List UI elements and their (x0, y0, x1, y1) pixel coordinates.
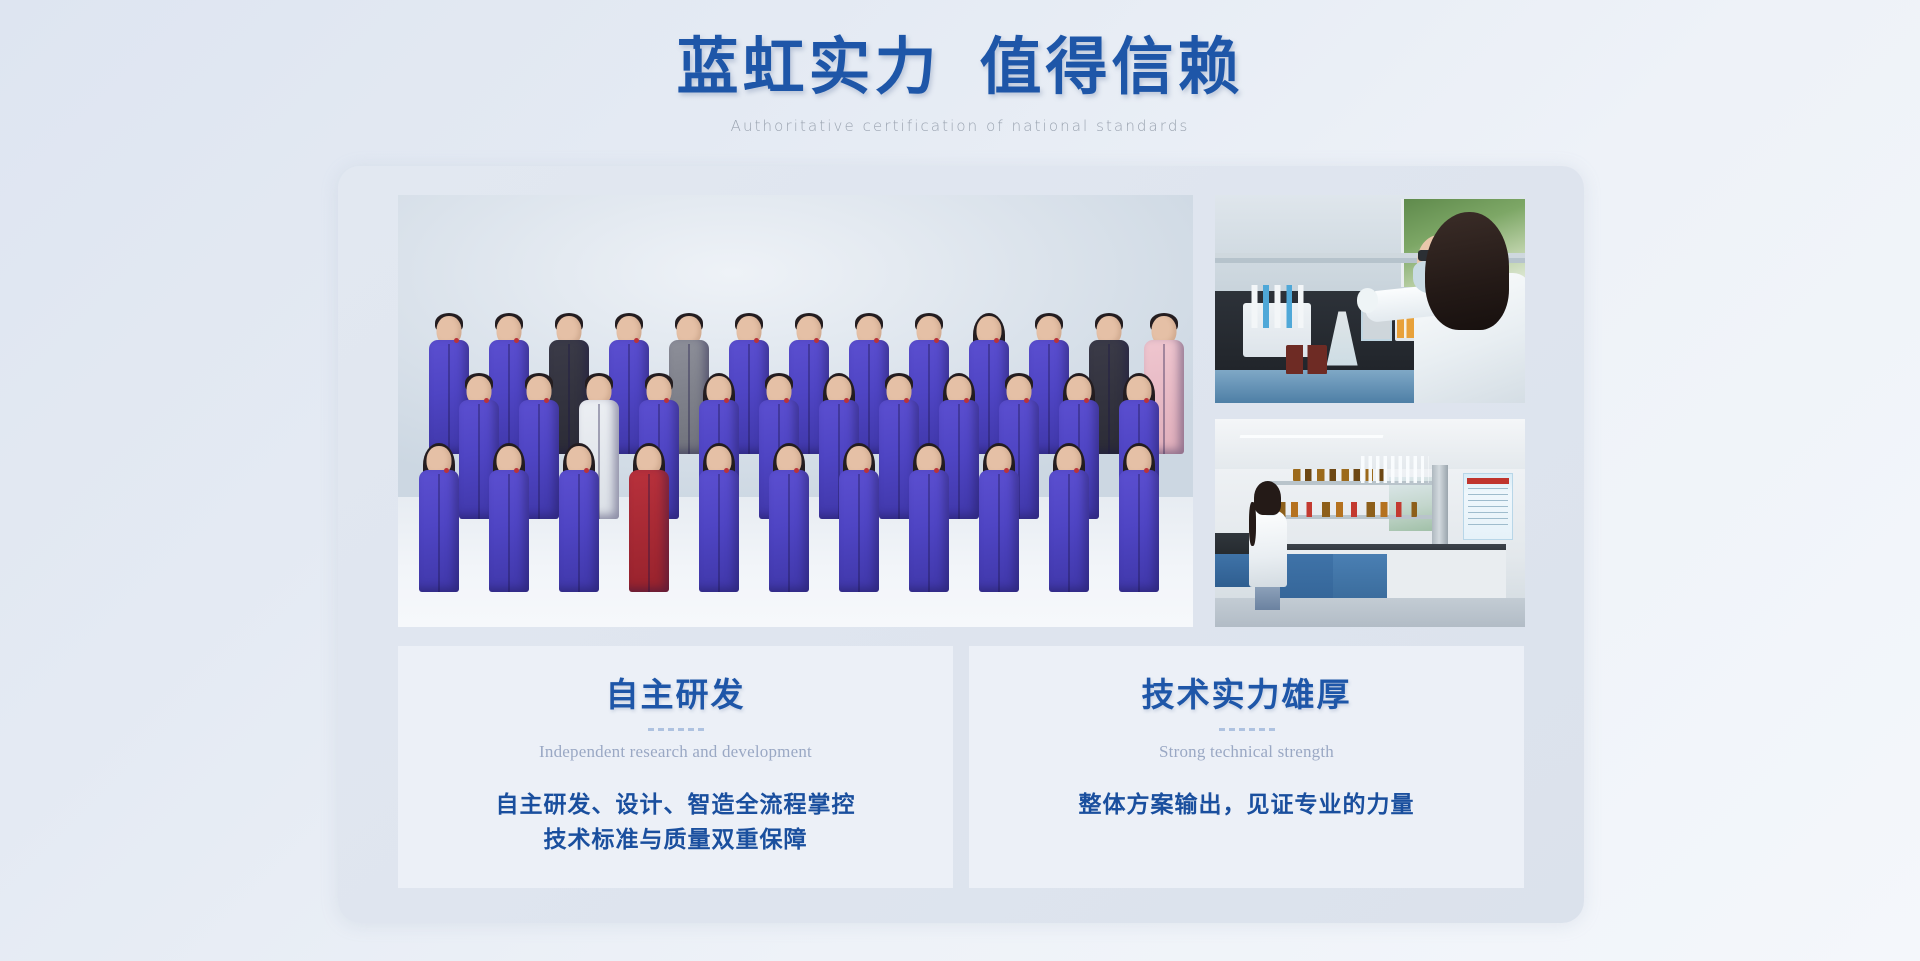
person (558, 446, 600, 593)
reagent-bottles (1286, 345, 1326, 374)
content-panel: 自主研发 Independent research and developmen… (338, 166, 1584, 923)
person (768, 446, 810, 593)
company-team-group-photo (398, 195, 1193, 627)
reagent-bottles-lower (1277, 502, 1417, 517)
group-photo-people (398, 195, 1193, 627)
person (488, 446, 530, 593)
dashed-divider-icon (648, 728, 704, 731)
feature-card-technical-strength: 技术实力雄厚 Strong technical strength 整体方案输出，… (969, 646, 1524, 888)
dashed-divider-icon (1219, 728, 1275, 731)
person (838, 446, 880, 593)
person (1048, 446, 1090, 593)
page-root: 蓝虹实力 值得信赖 Authoritative certification of… (0, 0, 1920, 961)
person (628, 446, 670, 593)
glassware-row (1361, 456, 1429, 483)
feature-card-subtitle: Independent research and development (539, 742, 812, 762)
lab-researcher (1246, 481, 1289, 610)
feature-card-title: 自主研发 (606, 668, 746, 716)
feature-card-independent-rd: 自主研发 Independent research and developmen… (398, 646, 953, 888)
lab-technician (1395, 212, 1525, 403)
person (698, 446, 740, 593)
person (908, 446, 950, 593)
lab-technician-pipetting-photo (1215, 195, 1525, 403)
safety-poster (1463, 473, 1513, 540)
group-row-front (398, 446, 1193, 593)
person (418, 446, 460, 593)
page-subtitle: Authoritative certification of national … (0, 117, 1920, 135)
photo-gallery (398, 195, 1524, 627)
feature-card-body: 自主研发、设计、智造全流程掌控 技术标准与质量双重保障 (496, 788, 856, 858)
feature-card-title: 技术实力雄厚 (1142, 668, 1352, 716)
feature-card-subtitle: Strong technical strength (1159, 742, 1334, 762)
person (1118, 446, 1160, 593)
page-header: 蓝虹实力 值得信赖 Authoritative certification of… (0, 32, 1920, 135)
page-title: 蓝虹实力 值得信赖 (0, 32, 1920, 105)
feature-cards: 自主研发 Independent research and developmen… (398, 646, 1524, 888)
feature-card-body: 整体方案输出，见证专业的力量 (1079, 788, 1415, 823)
person (978, 446, 1020, 593)
laboratory-room-photo (1215, 419, 1525, 627)
